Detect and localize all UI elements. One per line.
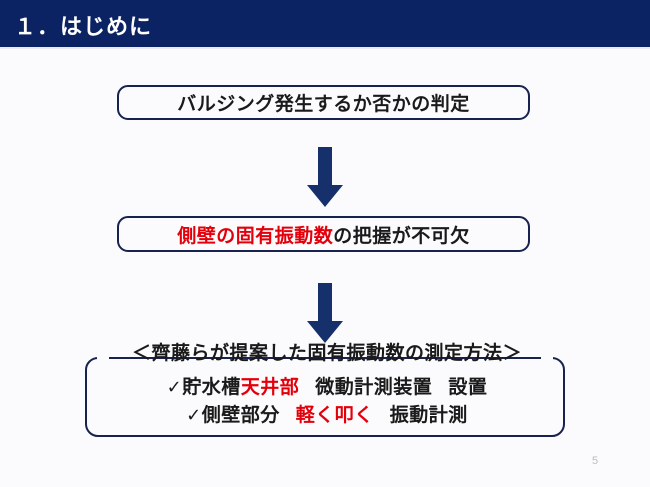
flowchart-box-method: ＜齊藤らが提案した固有振動数の測定方法＞ ✓貯水槽天井部微動計測装置設置 ✓側壁…: [85, 357, 565, 437]
method-list-item-2: ✓側壁部分軽く叩く振動計測: [87, 400, 567, 427]
check-icon: ✓: [167, 377, 183, 397]
page-title: １．はじめに: [14, 9, 152, 41]
method-line2-part3: 振動計測: [390, 405, 468, 426]
flowchart-box-judgement-label: バルジング発生するか否かの判定: [177, 89, 470, 116]
border-gap-right: [541, 354, 553, 360]
method-line2-highlight: 軽く叩く: [296, 405, 374, 426]
method-line1-part4: 設置: [448, 377, 487, 398]
check-icon: ✓: [186, 405, 202, 425]
arrow-down-icon: [307, 283, 343, 343]
slide-canvas: １．はじめに バルジング発生するか否かの判定 側壁の固有振動数の把握が不可欠 ＜…: [0, 0, 650, 487]
necessity-highlight-text: 側壁の固有振動数: [177, 226, 333, 247]
method-heading-label: ＜齊藤らが提案した固有振動数の測定方法＞: [87, 338, 567, 365]
page-number: 5: [592, 455, 598, 467]
method-line1-part3: 微動計測装置: [315, 377, 432, 398]
border-gap-left: [97, 354, 109, 360]
necessity-rest-text: の把握が不可欠: [333, 226, 470, 247]
method-line1-highlight: 天井部: [241, 377, 300, 398]
flowchart-box-necessity-text: 側壁の固有振動数の把握が不可欠: [177, 221, 470, 248]
arrow-down-icon: [307, 147, 343, 207]
flowchart-box-necessity: 側壁の固有振動数の把握が不可欠: [117, 216, 530, 252]
header-divider: [0, 47, 650, 49]
method-line2-part1: 側壁部分: [202, 405, 280, 426]
flowchart-box-judgement: バルジング発生するか否かの判定: [117, 85, 530, 120]
method-list-item-1: ✓貯水槽天井部微動計測装置設置: [87, 372, 567, 399]
method-line1-part1: 貯水槽: [182, 377, 241, 398]
